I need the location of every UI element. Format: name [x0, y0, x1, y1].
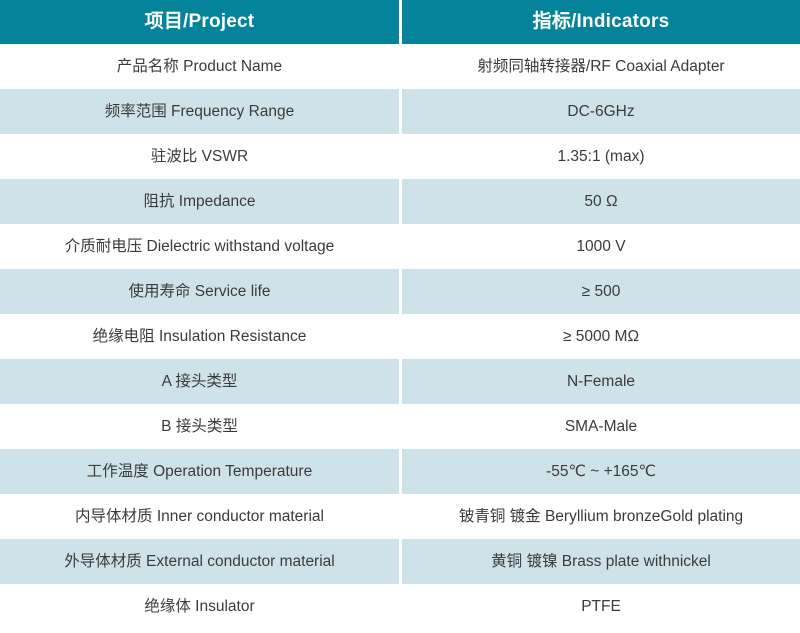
table-row: 阻抗 Impedance50 Ω — [0, 179, 800, 224]
cell-project: 使用寿命 Service life — [0, 269, 399, 314]
table-row: 绝缘体 InsulatorPTFE — [0, 584, 800, 629]
cell-project: 频率范围 Frequency Range — [0, 89, 399, 134]
cell-indicators: ≥ 5000 MΩ — [402, 314, 800, 359]
cell-project: 工作温度 Operation Temperature — [0, 449, 399, 494]
table-row: 使用寿命 Service life≥ 500 — [0, 269, 800, 314]
column-header-indicators: 指标/Indicators — [402, 0, 800, 44]
column-header-project: 项目/Project — [0, 0, 399, 44]
table-header-row: 项目/Project 指标/Indicators — [0, 0, 800, 44]
cell-project: 绝缘体 Insulator — [0, 584, 399, 629]
table-row: 频率范围 Frequency RangeDC-6GHz — [0, 89, 800, 134]
cell-project: 内导体材质 Inner conductor material — [0, 494, 399, 539]
table-row: B 接头类型SMA-Male — [0, 404, 800, 449]
cell-project: 外导体材质 External conductor material — [0, 539, 399, 584]
cell-indicators: ≥ 500 — [402, 269, 800, 314]
cell-indicators: -55℃ ~ +165℃ — [402, 449, 800, 494]
table-row: 工作温度 Operation Temperature-55℃ ~ +165℃ — [0, 449, 800, 494]
cell-project: 驻波比 VSWR — [0, 134, 399, 179]
table-row: 绝缘电阻 Insulation Resistance≥ 5000 MΩ — [0, 314, 800, 359]
specification-table: 项目/Project 指标/Indicators 产品名称 Product Na… — [0, 0, 800, 629]
table-row: 产品名称 Product Name射频同轴转接器/RF Coaxial Adap… — [0, 44, 800, 89]
table-row: A 接头类型N-Female — [0, 359, 800, 404]
cell-project: A 接头类型 — [0, 359, 399, 404]
cell-project: 产品名称 Product Name — [0, 44, 399, 89]
cell-project: B 接头类型 — [0, 404, 399, 449]
table-row: 外导体材质 External conductor material黄铜 镀镍 B… — [0, 539, 800, 584]
cell-project: 介质耐电压 Dielectric withstand voltage — [0, 224, 399, 269]
table-body: 产品名称 Product Name射频同轴转接器/RF Coaxial Adap… — [0, 44, 800, 629]
cell-indicators: 50 Ω — [402, 179, 800, 224]
cell-project: 绝缘电阻 Insulation Resistance — [0, 314, 399, 359]
cell-indicators: 黄铜 镀镍 Brass plate withnickel — [402, 539, 800, 584]
cell-indicators: 1.35:1 (max) — [402, 134, 800, 179]
table-row: 驻波比 VSWR1.35:1 (max) — [0, 134, 800, 179]
table-row: 介质耐电压 Dielectric withstand voltage1000 V — [0, 224, 800, 269]
cell-indicators: 射频同轴转接器/RF Coaxial Adapter — [402, 44, 800, 89]
cell-indicators: N-Female — [402, 359, 800, 404]
cell-project: 阻抗 Impedance — [0, 179, 399, 224]
table-row: 内导体材质 Inner conductor material铍青铜 镀金 Ber… — [0, 494, 800, 539]
table-header: 项目/Project 指标/Indicators — [0, 0, 800, 44]
cell-indicators: 铍青铜 镀金 Beryllium bronzeGold plating — [402, 494, 800, 539]
cell-indicators: DC-6GHz — [402, 89, 800, 134]
cell-indicators: 1000 V — [402, 224, 800, 269]
cell-indicators: PTFE — [402, 584, 800, 629]
cell-indicators: SMA-Male — [402, 404, 800, 449]
